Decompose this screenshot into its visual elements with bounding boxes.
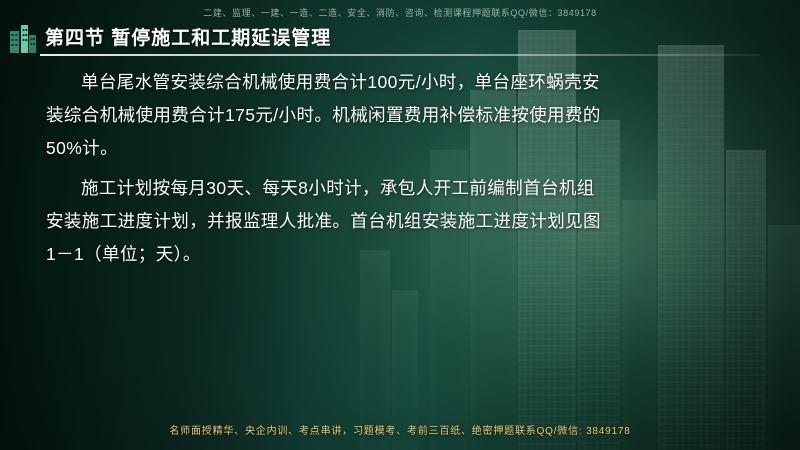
bottom-ticker-text: 名师面授精华、央企内训、考点串讲，习题模考、考前三百纸、绝密押题联系QQ/微信:… [0,422,800,437]
title-underline-rule [40,54,760,56]
building-logo-icon [8,22,38,54]
body-paragraph-1: 单台尾水管安装综合机械使用费合计100元/小时，单台座环蜗壳安装综合机械使用费合… [46,66,606,165]
page-title: 第四节 暂停施工和工期延误管理 [45,23,331,50]
body-paragraph-2: 施工计划按每月30天、每天8小时计，承包人开工前编制首台机组安装施工进度计划，并… [46,172,606,271]
top-ticker-text: 二建、监理、一建、一造、二造、安全、消防、咨询、检测课程押题联系QQ/微信：38… [0,6,800,19]
slide-root: 二建、监理、一建、一造、二造、安全、消防、咨询、检测课程押题联系QQ/微信：38… [0,0,800,450]
title-row: 第四节 暂停施工和工期延误管理 [0,22,800,56]
slide-body: 单台尾水管安装综合机械使用费合计100元/小时，单台座环蜗壳安装综合机械使用费合… [46,66,606,278]
